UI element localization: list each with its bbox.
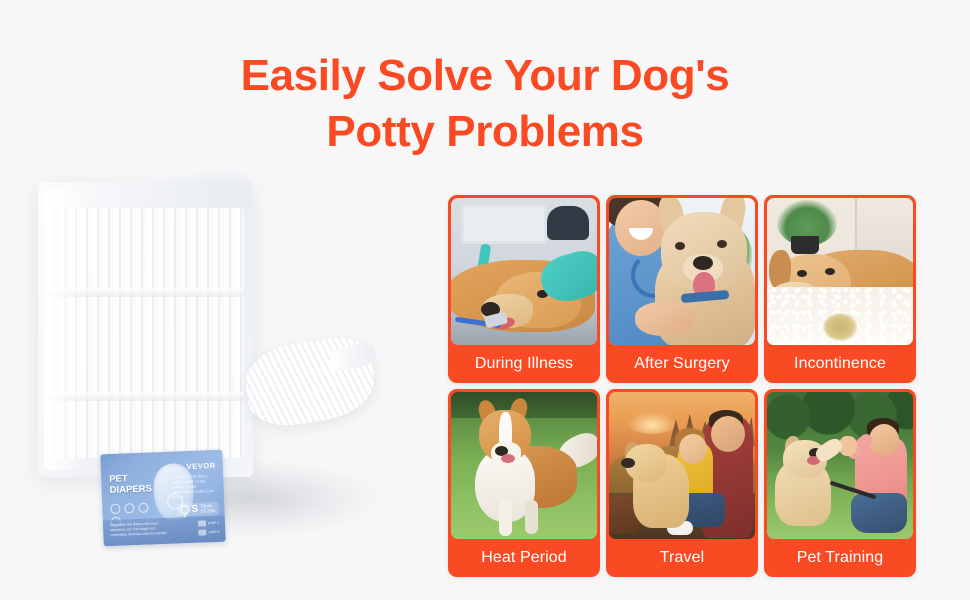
photo-incontinence (767, 198, 913, 345)
brand-name: VEVOR (186, 461, 216, 471)
label-steps: STEP 1 STEP 2 (198, 520, 219, 536)
use-case-grid: During Illness After Surgery (448, 195, 924, 577)
scene-collie-in-field (451, 392, 597, 539)
product-label: VEVOR PET DIAPERS SUITABLE FOR SMALL DOG… (100, 450, 225, 547)
label-footer-text: Disposable dog diapers with super absorb… (110, 521, 169, 538)
size-range: 10-20in (200, 508, 216, 514)
package-highlight (44, 190, 88, 470)
use-case-tile-heat-period[interactable]: Heat Period (448, 389, 600, 577)
caption-pet-training: Pet Training (764, 539, 916, 577)
label-size-badge: S 72pcs 10-20in (177, 501, 218, 516)
page-headline: Easily Solve Your Dog's Potty Problems (0, 48, 970, 161)
product-image: VEVOR PET DIAPERS SUITABLE FOR SMALL DOG… (0, 160, 440, 540)
step-thumb-icon (198, 520, 206, 526)
use-case-tile-pet-training[interactable]: Pet Training (764, 389, 916, 577)
leak-proof-icon (124, 503, 134, 513)
label-footer: Disposable dog diapers with super absorb… (103, 516, 226, 547)
female-symbol-icon (180, 505, 189, 514)
size-meta: 72pcs 10-20in (200, 503, 216, 515)
photo-heat-period (451, 392, 597, 539)
photo-during-illness (451, 198, 597, 345)
breathable-icon (138, 503, 148, 513)
scene-training-high-five (767, 392, 913, 539)
scene-family-sunset (609, 392, 755, 539)
label-title-line-1: PET (109, 473, 128, 485)
absorbent-icon (110, 504, 120, 514)
scene-vet-with-dog (609, 198, 755, 345)
headline-line-2: Potty Problems (0, 104, 970, 160)
size-letter: S (191, 503, 198, 514)
caption-during-illness: During Illness (448, 345, 600, 383)
use-case-tile-after-surgery[interactable]: After Surgery (606, 195, 758, 383)
label-step-1: STEP 1 (198, 520, 219, 527)
label-step-2: STEP 2 (198, 529, 219, 536)
scene-dog-on-rug (767, 198, 913, 345)
label-specs: SUITABLE FOR SMALL DOGS WAIST 10-20in WE… (172, 474, 217, 501)
use-case-tile-incontinence[interactable]: Incontinence (764, 195, 916, 383)
size-count: 72pcs (200, 503, 212, 508)
caption-incontinence: Incontinence (764, 345, 916, 383)
photo-after-surgery (609, 198, 755, 345)
label-title-line-2: DIAPERS (109, 484, 152, 497)
caption-heat-period: Heat Period (448, 539, 600, 577)
headline-line-1: Easily Solve Your Dog's (0, 48, 970, 104)
photo-pet-training (767, 392, 913, 539)
caption-after-surgery: After Surgery (606, 345, 758, 383)
scene-vet-table (451, 198, 597, 345)
step-thumb-icon (198, 529, 206, 535)
use-case-tile-during-illness[interactable]: During Illness (448, 195, 600, 383)
use-case-tile-travel[interactable]: Travel (606, 389, 758, 577)
caption-travel: Travel (606, 539, 758, 577)
photo-travel (609, 392, 755, 539)
